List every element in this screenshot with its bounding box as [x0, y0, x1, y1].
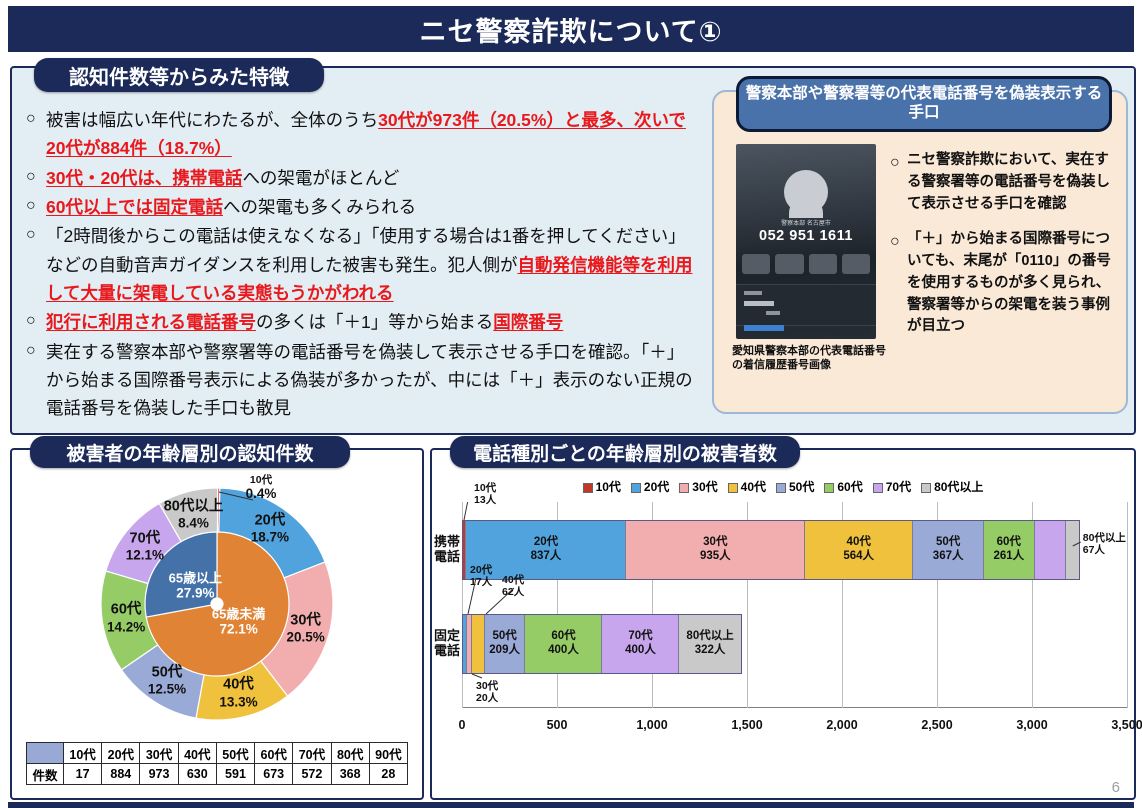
bottom-accent-bar — [8, 802, 1134, 808]
feature-bullet: ○犯行に利用される電話番号の多くは「＋1」等から始まる国際番号 — [26, 308, 696, 336]
legend-swatch — [776, 483, 786, 493]
table-header-row: 10代20代30代40代50代60代70代80代90代 — [27, 743, 408, 764]
label-category: 70代 — [126, 530, 164, 547]
table-cell: 630 — [178, 764, 216, 785]
pie-label-50代: 50代12.5% — [148, 665, 186, 698]
table-cell: 884 — [102, 764, 140, 785]
spoof-bullet: ○ニセ警察詐欺において、実在する警察署等の電話番号を偽装して表示させる手口を確認 — [890, 150, 1114, 215]
table-col-header: 10代 — [64, 743, 102, 764]
pie-inner-label-65歳未満: 65歳未満72.1% — [212, 606, 265, 637]
label-percent: 18.7% — [251, 529, 289, 545]
bullet-marker-icon: ○ — [26, 193, 46, 221]
pie-panel-heading: 被害者の年齢層別の認知件数 — [30, 436, 350, 468]
page-title: ニセ警察詐欺について① — [8, 6, 1134, 52]
feature-bullet: ○実在する警察本部や警察署等の電話番号を偽装して表示させる手口を確認。「＋」から… — [26, 338, 696, 423]
phone-caller-name: 警察本部 名古屋市 — [736, 218, 876, 227]
legend-swatch — [631, 483, 641, 493]
x-tick-label: 500 — [547, 718, 568, 732]
call-history-row — [736, 284, 876, 326]
table-cell: 572 — [293, 764, 331, 785]
spoof-box-title: 警察本部や警察署等の代表電話番号を偽装表示する手口 — [736, 76, 1112, 132]
table-col-header: 40代 — [178, 743, 216, 764]
legend-label: 80代以上 — [934, 480, 983, 494]
label-category: 65歳以上 — [169, 570, 222, 585]
spoof-bullet: ○「＋」から始まる国際番号についても、末尾が「0110」の番号を使用するものが多… — [890, 229, 1114, 338]
table-row: 件数1788497363059167357236828 — [27, 764, 408, 785]
callout-landline-40dai: 40代62人 — [502, 574, 524, 599]
table-cell: 973 — [140, 764, 178, 785]
bar-chart-legend: 10代20代30代40代50代60代70代80代以上 — [432, 478, 1134, 495]
bar-segment-80代以上 — [1066, 521, 1079, 579]
table-cell: 17 — [64, 764, 102, 785]
table-cell: 28 — [369, 764, 407, 785]
callout-category: 10代 — [474, 482, 496, 494]
feature-bullet: ○被害は幅広い年代にわたるが、全体のうち30代が973件（20.5%）と最多、次… — [26, 106, 696, 163]
x-tick-label: 1,000 — [636, 718, 667, 732]
x-tick-label: 1,500 — [731, 718, 762, 732]
legend-item-60代: 60代 — [824, 480, 862, 494]
label-percent: 0.4% — [246, 486, 277, 502]
segment-category: 50代 — [492, 630, 516, 644]
segment-value: 261人 — [993, 550, 1024, 564]
legend-item-30代: 30代 — [679, 480, 717, 494]
legend-item-50代: 50代 — [776, 480, 814, 494]
legend-swatch — [921, 483, 931, 493]
segment-category: 60代 — [551, 630, 575, 644]
bar-segment-80代以上: 80代以上322人 — [679, 615, 740, 673]
legend-swatch — [824, 483, 834, 493]
table-col-header: 30代 — [140, 743, 178, 764]
phone-number-display: 052 951 1611 — [736, 228, 876, 244]
label-percent: 12.1% — [126, 548, 164, 564]
segment-category: 50代 — [936, 536, 960, 550]
pie-label-70代: 70代12.1% — [126, 530, 164, 563]
segment-value: 564人 — [843, 550, 874, 564]
table-col-header: 50代 — [216, 743, 254, 764]
legend-label: 50代 — [789, 480, 814, 494]
label-percent: 14.2% — [107, 619, 145, 635]
segment-value: 400人 — [548, 644, 579, 658]
table-col-header: 70代 — [293, 743, 331, 764]
bar-segment-40代: 40代564人 — [805, 521, 913, 579]
segment-category: 80代以上 — [686, 630, 733, 644]
label-percent: 8.4% — [164, 516, 224, 532]
x-tick-label: 2,000 — [826, 718, 857, 732]
legend-item-40代: 40代 — [728, 480, 766, 494]
spoof-bullet-list: ○ニセ警察詐欺において、実在する警察署等の電話番号を偽装して表示させる手口を確認… — [890, 150, 1114, 352]
message-icon — [742, 254, 770, 274]
bar-category-label: 携帯電話 — [430, 534, 464, 565]
bullet-text: 被害は幅広い年代にわたるが、全体のうち30代が973件（20.5%）と最多、次い… — [46, 106, 696, 163]
label-percent: 27.9% — [169, 586, 222, 602]
bar-chart-plot: 05001,0001,5002,0002,5003,0003,50020代837… — [462, 502, 1127, 754]
legend-label: 10代 — [596, 480, 621, 494]
table-corner-cell — [27, 743, 64, 764]
label-category: 20代 — [251, 512, 289, 529]
bullet-marker-icon: ○ — [26, 338, 46, 423]
features-heading: 認知件数等からみた特徴 — [34, 58, 324, 92]
table-row-label: 件数 — [27, 764, 64, 785]
pie-label-80代以上: 80代以上8.4% — [164, 499, 224, 532]
x-tick-label: 3,000 — [1016, 718, 1047, 732]
segment-category: 40代 — [847, 536, 871, 550]
age-count-table: 10代20代30代40代50代60代70代80代90代件数17884973630… — [26, 742, 408, 785]
bullet-marker-icon: ○ — [26, 308, 46, 336]
bar-segment-50代: 50代367人 — [913, 521, 984, 579]
callout-category: 30代 — [476, 680, 498, 692]
bar-segment-70代 — [1035, 521, 1066, 579]
phone-image-caption: 愛知県警察本部の代表電話番号の着信履歴番号画像 — [732, 344, 892, 373]
bullet-marker-icon: ○ — [890, 229, 907, 338]
legend-item-80代以上: 80代以上 — [921, 480, 983, 494]
bar-row-固定電話: 50代209人60代400人70代400人80代以上322人 — [462, 614, 742, 674]
bullet-text: 「2時間後からこの電話は使えなくなる」「使用する場合は1番を押してください」など… — [46, 222, 696, 307]
pie-inner-label-65歳以上: 65歳以上27.9% — [169, 570, 222, 601]
label-category: 65歳未満 — [212, 606, 265, 621]
history-line-1 — [744, 291, 762, 295]
bar-category-label: 固定電話 — [430, 628, 464, 659]
bullet-marker-icon: ○ — [26, 164, 46, 192]
table-col-header: 20代 — [102, 743, 140, 764]
bar-chart-panel: 電話種別ごとの年齢層別の被害者数 10代20代30代40代50代60代70代80… — [430, 448, 1136, 800]
legend-swatch — [873, 483, 883, 493]
label-category: 10代 — [246, 474, 277, 486]
label-percent: 20.5% — [286, 629, 324, 645]
segment-value: 400人 — [625, 644, 656, 658]
pie-chart-panel: 被害者の年齢層別の認知件数 20代18.7%30代20.5%40代13.3%50… — [10, 448, 424, 800]
label-percent: 13.3% — [219, 694, 257, 710]
feature-bullet: ○「2時間後からこの電話は使えなくなる」「使用する場合は1番を押してください」な… — [26, 222, 696, 307]
legend-label: 40代 — [741, 480, 766, 494]
callout-mobile-80dai: 80代以上67人 — [1083, 532, 1126, 557]
label-percent: 12.5% — [148, 682, 186, 698]
callout-landline-20dai: 20代17人 — [470, 564, 492, 589]
caller-avatar-icon — [784, 170, 828, 214]
bar-panel-heading: 電話種別ごとの年齢層別の被害者数 — [450, 436, 800, 468]
callout-value: 62人 — [502, 586, 524, 598]
bullet-text: ニセ警察詐欺において、実在する警察署等の電話番号を偽装して表示させる手口を確認 — [907, 150, 1114, 215]
bar-segment-40代 — [472, 615, 485, 673]
segment-value: 209人 — [489, 644, 520, 658]
segment-category: 20代 — [534, 536, 558, 550]
callout-category: 40代 — [502, 574, 524, 586]
legend-swatch — [679, 483, 689, 493]
callout-value: 20人 — [476, 692, 498, 704]
mail-icon — [842, 254, 870, 274]
history-footer-link — [744, 325, 784, 331]
label-percent: 72.1% — [212, 622, 265, 638]
legend-label: 30代 — [692, 480, 717, 494]
legend-item-10代: 10代 — [583, 480, 621, 494]
bullet-text: 犯行に利用される電話番号の多くは「＋1」等から始まる国際番号 — [46, 308, 696, 336]
legend-label: 70代 — [886, 480, 911, 494]
label-category: 40代 — [219, 677, 257, 694]
bar-segment-70代: 70代400人 — [602, 615, 679, 673]
bar-segment-50代: 50代209人 — [485, 615, 526, 673]
x-tick-label: 0 — [459, 718, 466, 732]
table-col-header: 90代 — [369, 743, 407, 764]
features-panel: 認知件数等からみた特徴 ○被害は幅広い年代にわたるが、全体のうち30代が973件… — [10, 66, 1136, 435]
video-icon — [809, 254, 837, 274]
x-tick-label: 3,500 — [1111, 718, 1142, 732]
x-axis-line — [462, 707, 1127, 708]
bullet-marker-icon: ○ — [26, 106, 46, 163]
legend-label: 60代 — [837, 480, 862, 494]
table-col-header: 80代 — [331, 743, 369, 764]
features-bullet-list: ○被害は幅広い年代にわたるが、全体のうち30代が973件（20.5%）と最多、次… — [26, 106, 696, 424]
bullet-text: 30代・20代は、携帯電話への架電がほとんど — [46, 164, 696, 192]
phone-call-screenshot: 警察本部 名古屋市 052 951 1611 — [736, 144, 876, 339]
pie-label-60代: 60代14.2% — [107, 602, 145, 635]
feature-bullet: ○30代・20代は、携帯電話への架電がほとんど — [26, 164, 696, 192]
legend-swatch — [728, 483, 738, 493]
pie-label-30代: 30代20.5% — [286, 612, 324, 645]
table-cell: 673 — [255, 764, 293, 785]
history-line-2 — [744, 301, 774, 306]
bullet-text: 実在する警察本部や警察署等の電話番号を偽装して表示させる手口を確認。「＋」から始… — [46, 338, 696, 423]
bullet-text: 「＋」から始まる国際番号についても、末尾が「0110」の番号を使用するものが多く… — [907, 229, 1114, 338]
label-category: 60代 — [107, 602, 145, 619]
segment-value: 322人 — [695, 644, 726, 658]
segment-category: 30代 — [703, 536, 727, 550]
bar-row-携帯電話: 20代837人30代935人40代564人50代367人60代261人 — [462, 520, 1080, 580]
bullet-text: 60代以上では固定電話への架電も多くみられる — [46, 193, 696, 221]
bullet-marker-icon: ○ — [890, 150, 907, 215]
page-number: 6 — [1112, 779, 1120, 796]
callout-value: 17人 — [470, 576, 492, 588]
label-category: 50代 — [148, 665, 186, 682]
phone-action-buttons — [742, 254, 870, 274]
spoof-method-box: 警察本部や警察署等の代表電話番号を偽装表示する手口 警察本部 名古屋市 052 … — [712, 90, 1128, 414]
bar-segment-60代: 60代400人 — [525, 615, 602, 673]
table-cell: 591 — [216, 764, 254, 785]
history-line-3 — [766, 311, 780, 315]
call-icon — [775, 254, 803, 274]
callout-value: 13人 — [474, 494, 496, 506]
feature-bullet: ○60代以上では固定電話への架電も多くみられる — [26, 193, 696, 221]
callout-category: 20代 — [470, 564, 492, 576]
segment-value: 935人 — [700, 550, 731, 564]
pie-label-10代: 10代0.4% — [246, 474, 277, 502]
legend-item-70代: 70代 — [873, 480, 911, 494]
callout-value: 67人 — [1083, 544, 1126, 556]
label-category: 80代以上 — [164, 499, 224, 516]
x-tick-label: 2,500 — [921, 718, 952, 732]
callout-mobile-10dai: 10代13人 — [474, 482, 496, 507]
x-gridline — [1127, 502, 1128, 708]
bullet-marker-icon: ○ — [26, 222, 46, 307]
bar-segment-60代: 60代261人 — [984, 521, 1035, 579]
legend-item-20代: 20代 — [631, 480, 669, 494]
legend-label: 20代 — [644, 480, 669, 494]
callout-category: 80代以上 — [1083, 532, 1126, 544]
segment-category: 70代 — [628, 630, 652, 644]
label-category: 30代 — [286, 612, 324, 629]
segment-value: 837人 — [531, 550, 562, 564]
bar-segment-30代: 30代935人 — [626, 521, 805, 579]
legend-swatch — [583, 483, 593, 493]
segment-category: 60代 — [997, 536, 1021, 550]
age-donut-chart: 20代18.7%30代20.5%40代13.3%50代12.5%60代14.2%… — [12, 480, 422, 738]
table-col-header: 60代 — [255, 743, 293, 764]
pie-label-40代: 40代13.3% — [219, 677, 257, 710]
callout-landline-30dai: 30代20人 — [476, 680, 498, 705]
slide-page: ニセ警察詐欺について① 認知件数等からみた特徴 ○被害は幅広い年代にわたるが、全… — [0, 0, 1142, 808]
segment-value: 367人 — [933, 550, 964, 564]
table-cell: 368 — [331, 764, 369, 785]
pie-label-20代: 20代18.7% — [251, 512, 289, 545]
